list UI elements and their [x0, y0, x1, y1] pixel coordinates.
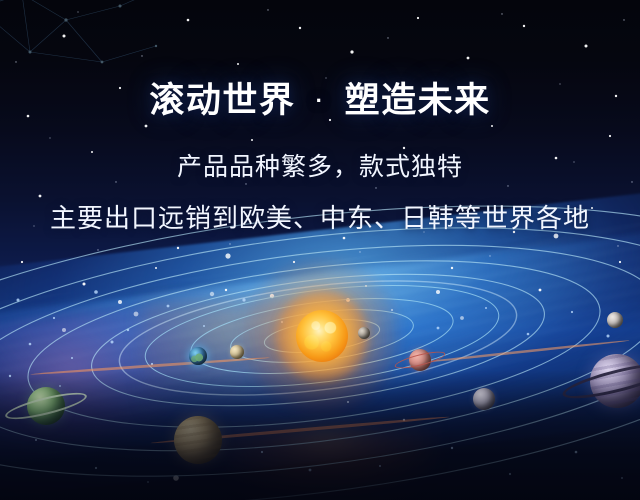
banner-copy: 滚动世界 · 塑造未来 产品品种繁多，款式独特 主要出口远销到欧美、中东、日韩等… [0, 0, 640, 235]
planet-red-ringed [409, 349, 431, 371]
foreground-shadow-overlay [0, 370, 640, 500]
planet-pale-topright [607, 312, 623, 328]
planet-grey-small [358, 327, 370, 339]
headline-separator-dot: · [316, 88, 325, 114]
sun-surface-mottle [296, 310, 348, 362]
subtitle-line-2: 主要出口远销到欧美、中东、日韩等世界各地 [0, 198, 640, 235]
planet-earth-continents [189, 347, 207, 365]
planet-earth [189, 347, 207, 365]
page-title: 滚动世界 · 塑造未来 [0, 80, 640, 122]
headline-part-2: 塑造未来 [345, 81, 491, 120]
space-banner: 滚动世界 · 塑造未来 产品品种繁多，款式独特 主要出口远销到欧美、中东、日韩等… [0, 0, 640, 500]
subtitle-line-1: 产品品种繁多，款式独特 [0, 147, 640, 183]
headline-part-1: 滚动世界 [149, 81, 295, 120]
planet-cream [230, 345, 244, 359]
